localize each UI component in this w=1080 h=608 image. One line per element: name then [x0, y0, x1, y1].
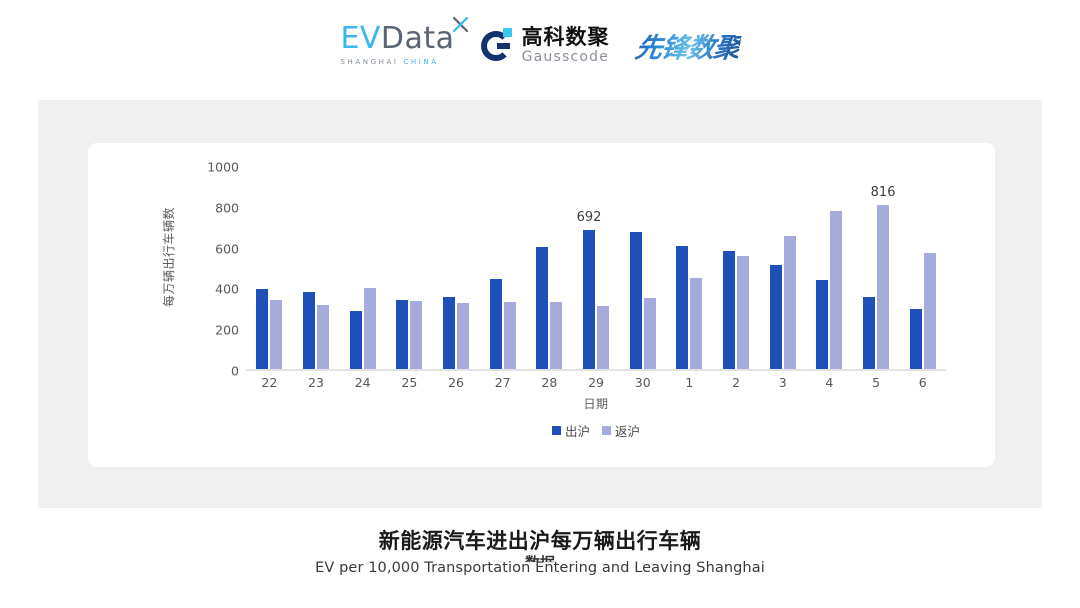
bar-出沪[interactable] — [490, 279, 502, 371]
bar-返沪[interactable] — [364, 288, 376, 371]
y-axis-tick: 600 — [193, 241, 239, 256]
bar-出沪[interactable] — [816, 280, 828, 371]
caption-title-cn: 新能源汽车进出沪每万辆出行车辆 — [0, 528, 1080, 554]
x-axis-title: 日期 — [246, 395, 946, 412]
legend-swatch-icon — [602, 426, 611, 435]
y-axis-ticks: 02004006008001000 — [193, 167, 239, 371]
x-axis-tick: 2 — [713, 375, 760, 393]
x-axis-tick: 6 — [899, 375, 946, 393]
x-axis-tick: 23 — [293, 375, 340, 393]
caption-title-en: EV per 10,000 Transportation Entering an… — [0, 560, 1080, 576]
slide-root: EV Data SHANGHAI CHINA 高科数聚 Gausscode — [0, 0, 1080, 608]
x-axis-tick: 30 — [619, 375, 666, 393]
bar-出沪[interactable] — [630, 232, 642, 371]
y-axis-tick: 400 — [193, 282, 239, 297]
logo-gausscode: 高科数聚 Gausscode — [481, 27, 610, 64]
x-axis-tick: 5 — [853, 375, 900, 393]
x-axis-tick: 28 — [526, 375, 573, 393]
bar-group — [759, 167, 806, 371]
y-axis-title: 每万辆出行车辆数 — [160, 192, 176, 322]
gausscode-name-en: Gausscode — [522, 50, 610, 64]
bar-出沪[interactable] — [256, 289, 268, 371]
x-axis-tick: 27 — [479, 375, 526, 393]
x-axis-tick: 29 — [573, 375, 620, 393]
bar-返沪[interactable] — [410, 301, 422, 371]
x-sparkle-icon — [451, 15, 471, 35]
evdata-wordmark: EV Data — [340, 24, 454, 54]
bar-出沪[interactable] — [770, 265, 782, 371]
bar-返沪[interactable] — [597, 306, 609, 371]
legend-label: 返沪 — [615, 421, 640, 440]
bar-出沪[interactable] — [910, 309, 922, 371]
evdata-subtitle-shanghai: SHANGHAI — [340, 58, 398, 66]
evdata-word-ev: EV — [340, 24, 380, 54]
y-axis-tick: 800 — [193, 200, 239, 215]
bar-返沪[interactable] — [457, 303, 469, 371]
evdata-subtitle: SHANGHAI CHINA — [340, 58, 438, 66]
bar-group — [806, 167, 853, 371]
bar-group — [386, 167, 433, 371]
bar-返沪[interactable] — [737, 256, 749, 371]
x-axis-baseline — [246, 369, 946, 371]
bar-返沪[interactable] — [690, 278, 702, 371]
bar-group — [246, 167, 293, 371]
bar-返沪[interactable] — [504, 302, 516, 371]
bar-groups: 692816 — [246, 167, 946, 371]
bar-返沪[interactable] — [784, 236, 796, 371]
bar-出沪[interactable] — [723, 251, 735, 371]
x-axis-tick: 22 — [246, 375, 293, 393]
bar-group: 692 — [573, 167, 620, 371]
bar-出沪[interactable] — [350, 311, 362, 371]
bar-group — [339, 167, 386, 371]
x-axis-tick: 4 — [806, 375, 853, 393]
x-axis-tick: 3 — [759, 375, 806, 393]
x-axis-tick: 24 — [339, 375, 386, 393]
logo-xianfeng: 先锋数聚 — [632, 26, 742, 65]
bar-返沪[interactable] — [830, 211, 842, 371]
chart-inner-card: 每万辆出行车辆数 02004006008001000 692816 222324… — [88, 143, 995, 467]
legend-swatch-icon — [552, 426, 561, 435]
x-axis-tick: 1 — [666, 375, 713, 393]
gausscode-name-cn: 高科数聚 — [522, 27, 610, 48]
bar-出沪[interactable] — [676, 246, 688, 371]
logo-bar: EV Data SHANGHAI CHINA 高科数聚 Gausscode — [0, 14, 1080, 76]
bar-出沪[interactable] — [443, 297, 455, 371]
g-circle-square — [503, 28, 512, 37]
bar-group — [666, 167, 713, 371]
bar-返沪[interactable] — [317, 305, 329, 371]
y-axis-tick: 1000 — [193, 160, 239, 175]
bar-value-label: 816 — [871, 185, 896, 200]
plot-area: 692816 — [246, 167, 946, 371]
caption-block: 新能源汽车进出沪每万辆出行车辆 数据 EV per 10,000 Transpo… — [0, 528, 1080, 576]
bar-返沪[interactable]: 816 — [877, 205, 889, 371]
bar-group — [619, 167, 666, 371]
gausscode-wordmark: 高科数聚 Gausscode — [522, 27, 610, 64]
g-circle-bar — [497, 43, 510, 49]
bar-chart: 每万辆出行车辆数 02004006008001000 692816 222324… — [88, 143, 995, 467]
bar-group: 816 — [853, 167, 900, 371]
chart-legend: 出沪返沪 — [246, 421, 946, 440]
y-axis-tick: 200 — [193, 323, 239, 338]
bar-出沪[interactable] — [536, 247, 548, 371]
evdata-subtitle-china: CHINA — [403, 58, 438, 66]
bar-出沪[interactable] — [396, 300, 408, 371]
bar-出沪[interactable] — [303, 292, 315, 371]
legend-item-出沪[interactable]: 出沪 — [552, 421, 590, 440]
g-circle-icon — [481, 28, 515, 62]
x-axis-tick: 25 — [386, 375, 433, 393]
bar-返沪[interactable] — [924, 253, 936, 371]
y-axis-tick: 0 — [193, 364, 239, 379]
bar-返沪[interactable] — [270, 300, 282, 371]
bar-返沪[interactable] — [550, 302, 562, 371]
bar-group — [526, 167, 573, 371]
bar-group — [479, 167, 526, 371]
bar-group — [433, 167, 480, 371]
bar-出沪[interactable]: 692 — [583, 230, 595, 371]
bar-group — [899, 167, 946, 371]
legend-item-返沪[interactable]: 返沪 — [602, 421, 640, 440]
bar-group — [713, 167, 760, 371]
x-axis-ticks: 222324252627282930123456 — [246, 375, 946, 393]
bar-value-label: 692 — [577, 210, 602, 225]
x-axis-tick: 26 — [433, 375, 480, 393]
logo-evdata: EV Data SHANGHAI CHINA — [340, 24, 454, 66]
evdata-word-data: Data — [381, 24, 455, 54]
legend-label: 出沪 — [565, 421, 590, 440]
bar-group — [293, 167, 340, 371]
bar-返沪[interactable] — [644, 298, 656, 371]
bar-出沪[interactable] — [863, 297, 875, 371]
